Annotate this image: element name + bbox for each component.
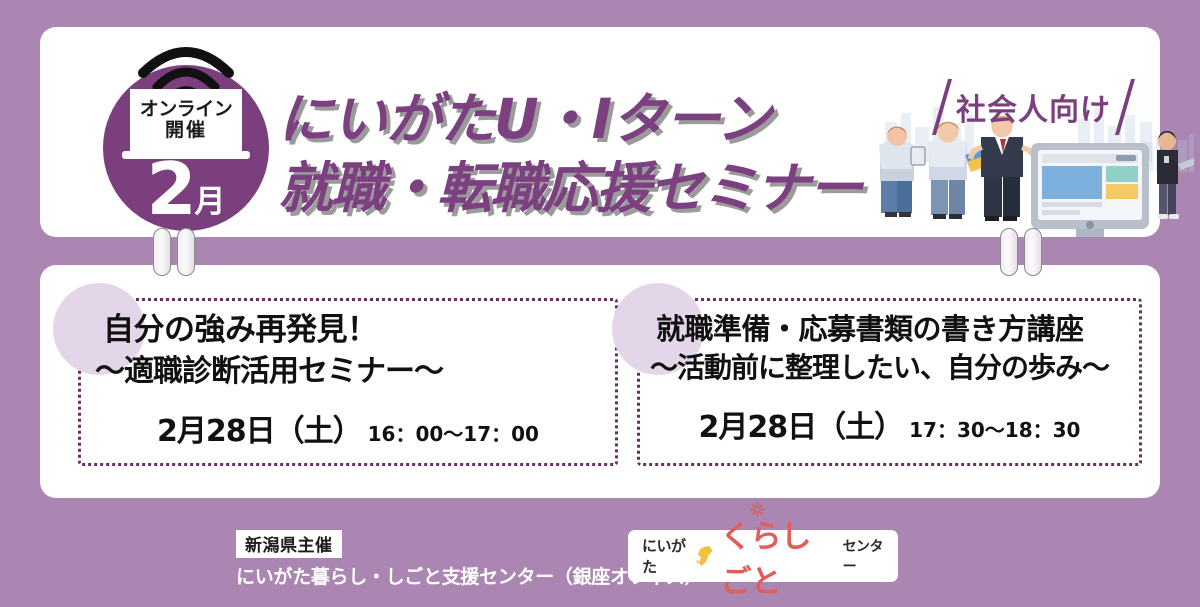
- session-card-2-content: 就職準備・応募書類の書き方講座 〜活動前に整理したい、自分の歩み〜 2月28日（…: [640, 301, 1139, 463]
- organizer-tag: 新潟県主催: [236, 530, 342, 558]
- header-panel: にいがたU・Iターン 就職・転職応援セミナー オンライン 開催 2月 社会人向け: [40, 27, 1160, 237]
- session-1-heading: 自分の強み再発見！: [81, 312, 615, 350]
- badge-month: 2月: [103, 153, 269, 225]
- session-card-1-content: 自分の強み再発見！ 〜適職診断活用セミナー〜 2月28日（土） 16：00〜17…: [81, 301, 615, 463]
- session-card-2[interactable]: 就職準備・応募書類の書き方講座 〜活動前に整理したい、自分の歩み〜 2月28日（…: [637, 298, 1142, 466]
- badge-screen-line2: 開催: [165, 120, 207, 141]
- badge-screen-line1: オンライン: [140, 99, 233, 120]
- niigata-map-icon: [694, 541, 714, 571]
- illus-monitor: [1031, 143, 1149, 237]
- badge-month-unit: 月: [195, 184, 226, 220]
- title-line-2: 就職・転職応援セミナー: [278, 154, 861, 223]
- sessions-panel: 自分の強み再発見！ 〜適職診断活用セミナー〜 2月28日（土） 16：00〜17…: [40, 265, 1160, 498]
- session-2-datetime: 2月28日（土） 17：30〜18：30: [640, 402, 1139, 446]
- staple-left-2: [177, 228, 195, 276]
- sparkle-icon: [750, 502, 765, 517]
- session-1-datetime: 2月28日（土） 16：00〜17：00: [81, 406, 615, 450]
- audience-tag: 社会人向け: [940, 79, 1127, 135]
- badge-month-number: 2: [146, 147, 194, 231]
- poster-stage: にいがたU・Iターン 就職・転職応援セミナー オンライン 開催 2月 社会人向け: [0, 0, 1200, 607]
- staple-right-1: [1000, 228, 1018, 276]
- staple-left-1: [153, 228, 171, 276]
- title-line-1: にいがたU・Iターン: [278, 85, 861, 154]
- logo-main-text: くらしごと: [720, 511, 835, 601]
- session-2-heading: 就職準備・応募書類の書き方講座: [640, 312, 1139, 347]
- session-2-date: 2月28日（土）: [699, 402, 904, 446]
- main-title: にいがたU・Iターン 就職・転職応援セミナー: [278, 85, 861, 224]
- session-1-time: 16：00〜17：00: [368, 418, 539, 447]
- kurashigoto-logo[interactable]: にいがた くらしご: [628, 530, 898, 582]
- session-1-date: 2月28日（土）: [157, 406, 362, 450]
- session-card-1[interactable]: 自分の強み再発見！ 〜適職診断活用セミナー〜 2月28日（土） 16：00〜17…: [78, 298, 618, 466]
- logo-main-label: くらしごと: [720, 519, 810, 600]
- session-1-subheading: 〜適職診断活用セミナー〜: [81, 354, 615, 391]
- session-2-time: 17：30〜18：30: [909, 414, 1080, 443]
- logo-suffix: センター: [843, 536, 884, 576]
- online-badge-screen: オンライン 開催: [130, 89, 242, 151]
- footer: 新潟県主催 にいがた暮らし・しごと支援センター（銀座オフィス） にいがた: [0, 512, 1200, 607]
- session-2-subheading: 〜活動前に整理したい、自分の歩み〜: [640, 351, 1139, 385]
- staple-right-2: [1024, 228, 1042, 276]
- audience-label: 社会人向け: [948, 85, 1119, 129]
- logo-prefix: にいがた: [642, 535, 687, 577]
